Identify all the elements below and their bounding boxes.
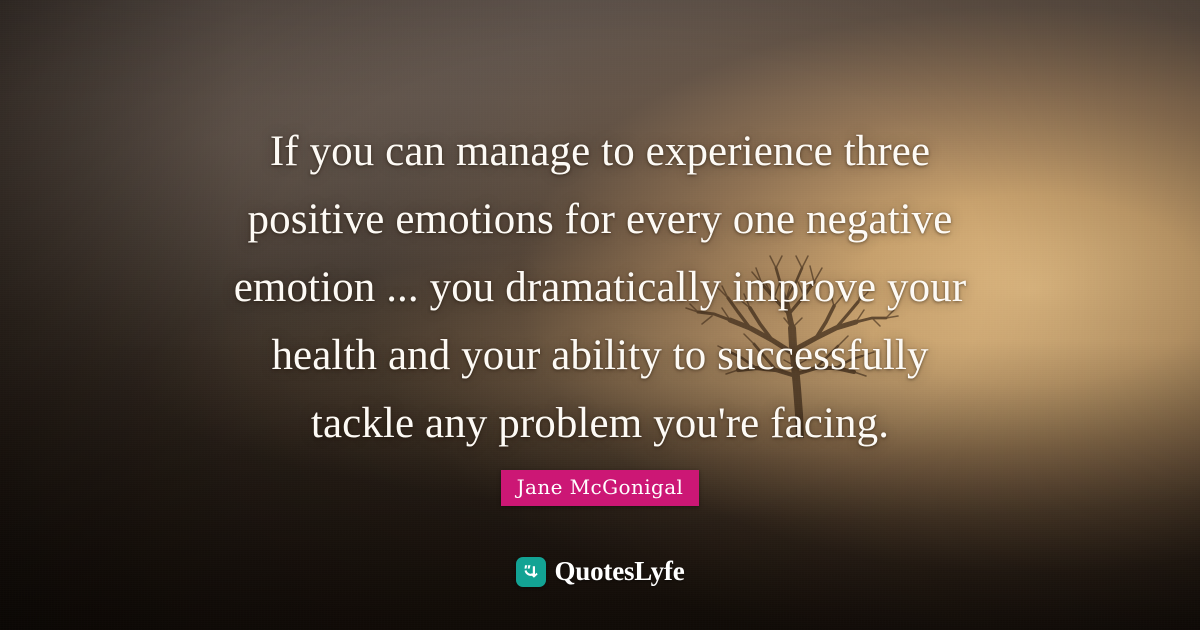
brand-logo[interactable]: QuotesLyfe xyxy=(0,556,1200,587)
quote-line: positive emotions for every one negative xyxy=(96,186,1104,254)
quote-line: tackle any problem you're facing. xyxy=(96,390,1104,458)
quote-line: health and your ability to successfully xyxy=(96,322,1104,390)
brand-name: QuotesLyfe xyxy=(555,556,685,587)
author-badge[interactable]: Jane McGonigal xyxy=(501,470,700,506)
quote-mark-icon xyxy=(516,557,546,587)
author-area: Jane McGonigal xyxy=(0,470,1200,506)
quote-text: If you can manage to experience three po… xyxy=(0,118,1200,458)
quote-line: emotion ... you dramatically improve you… xyxy=(96,254,1104,322)
quote-card: If you can manage to experience three po… xyxy=(0,0,1200,630)
quote-line: If you can manage to experience three xyxy=(96,118,1104,186)
